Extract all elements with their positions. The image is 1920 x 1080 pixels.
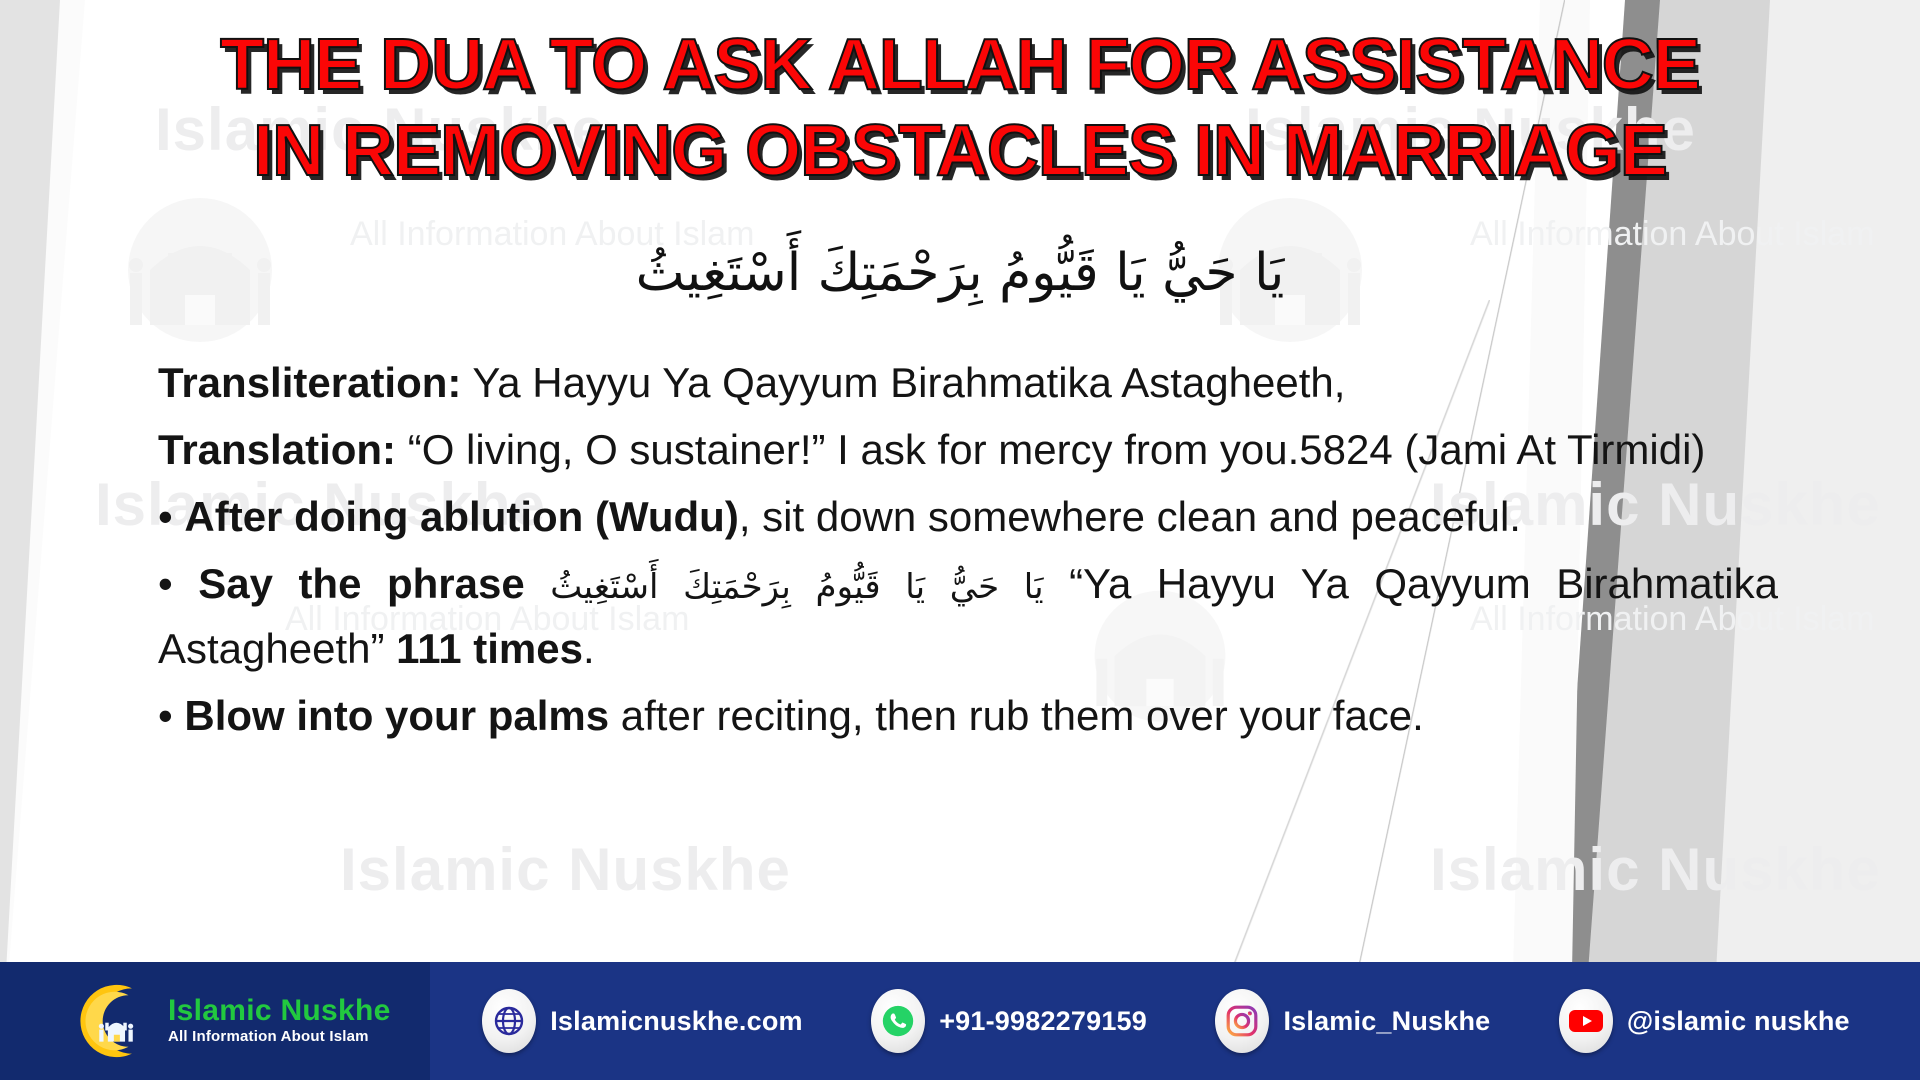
step-rest-text: after reciting, then rub them over your … <box>609 692 1424 739</box>
contact-website-label: Islamicnuskhe.com <box>550 1006 803 1037</box>
footer-brand-name: Islamic Nuskhe <box>168 995 391 1027</box>
contact-youtube-label: @islamic nuskhe <box>1627 1006 1850 1037</box>
footer-brand-text: Islamic Nuskhe All Information About Isl… <box>168 995 391 1047</box>
step-bold-text: Say the phrase <box>198 560 524 607</box>
bullet-marker: • <box>158 493 173 540</box>
step-rest-text: . <box>583 625 595 672</box>
transliteration-text: Ya Hayyu Ya Qayyum Birahmatika Astagheet… <box>461 359 1345 406</box>
crescent-moon-mosque-icon <box>70 978 156 1064</box>
contact-youtube[interactable]: @islamic nuskhe <box>1559 989 1850 1053</box>
poster-canvas: Islamic Nuskhe Islamic Nuskhe All Inform… <box>0 0 1920 1080</box>
contact-whatsapp-label: +91-9982279159 <box>939 1006 1147 1037</box>
step-item: • After doing ablution (Wudu), sit down … <box>158 486 1778 547</box>
step-rest-text: , sit down somewhere clean and peaceful. <box>739 493 1521 540</box>
bullet-marker: • <box>158 692 173 739</box>
step-item: • Say the phrase يَا حَيُّ يَا قَيُّومُ … <box>158 553 1778 679</box>
title-line-1: THE DUA TO ASK ALLAH FOR ASSISTANCE <box>0 22 1920 108</box>
poster-title: THE DUA TO ASK ALLAH FOR ASSISTANCE IN R… <box>0 22 1920 194</box>
step-bold-text: After doing ablution (Wudu) <box>184 493 738 540</box>
whatsapp-icon <box>871 989 925 1053</box>
step-bold-text: Blow into your palms <box>184 692 609 739</box>
youtube-icon <box>1559 989 1613 1053</box>
poster-body: Transliteration: Ya Hayyu Ya Qayyum Bira… <box>158 352 1778 752</box>
transliteration-label: Transliteration: <box>158 359 461 406</box>
footer-brand-block: Islamic Nuskhe All Information About Isl… <box>0 962 430 1080</box>
bullet-marker: • <box>158 560 173 607</box>
globe-icon <box>482 989 536 1053</box>
translation-label: Translation: <box>158 426 396 473</box>
contact-website[interactable]: Islamicnuskhe.com <box>482 989 803 1053</box>
contact-instagram-label: Islamic_Nuskhe <box>1283 1006 1490 1037</box>
footer-brand-tagline: All Information About Islam <box>168 1027 391 1047</box>
instagram-icon <box>1215 989 1269 1053</box>
footer-contacts: Islamicnuskhe.com +91-9982279159 <box>430 989 1920 1053</box>
step-count-text: 111 times <box>396 625 583 672</box>
translation-paragraph: Translation: “O living, O sustainer!” I … <box>158 419 1778 480</box>
title-line-2: IN REMOVING OBSTACLES IN MARRIAGE <box>0 108 1920 194</box>
arabic-dua-text: يَا حَيُّ يَا قَيُّومُ بِرَحْمَتِكَ أَسْ… <box>0 236 1920 310</box>
step-item: • Blow into your palms after reciting, t… <box>158 685 1778 746</box>
contact-instagram[interactable]: Islamic_Nuskhe <box>1215 989 1490 1053</box>
transliteration-paragraph: Transliteration: Ya Hayyu Ya Qayyum Bira… <box>158 352 1778 413</box>
footer-bar: Islamic Nuskhe All Information About Isl… <box>0 962 1920 1080</box>
step-arabic-phrase: يَا حَيُّ يَا قَيُّومُ بِرَحْمَتِكَ أَسْ… <box>550 567 1043 607</box>
contact-whatsapp[interactable]: +91-9982279159 <box>871 989 1147 1053</box>
translation-text: “O living, O sustainer!” I ask for mercy… <box>396 426 1705 473</box>
